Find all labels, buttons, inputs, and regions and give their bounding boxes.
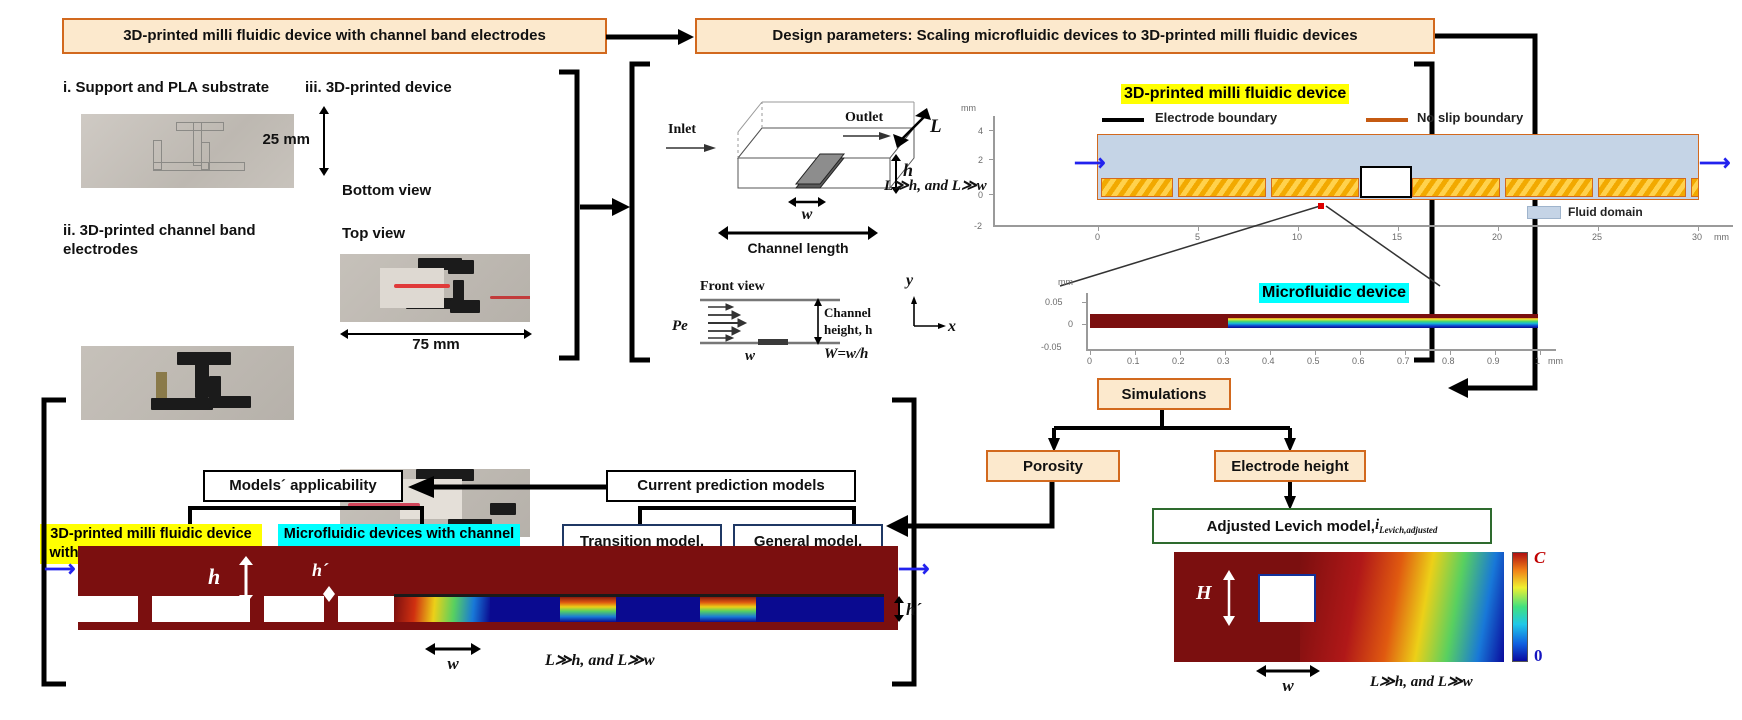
right-sim-H-arrow [1222,570,1236,626]
sim-top-ytick-3: -2 [974,221,982,231]
front-view-label: Front view [700,279,765,295]
bracket-applicability [182,500,432,526]
sim-top-ytick-1: 2 [978,155,983,165]
sim-bottom-xtick-6: 0.6 [1352,356,1365,366]
sim-top-legend-swatch-1 [1366,118,1408,122]
models-applicability-box: Models´ applicability [203,470,403,502]
sim-bottom-xtick-mark-0 [1090,350,1091,355]
bottom-sim-h-label: h [208,564,220,590]
sim-top-legend-label-2: Fluid domain [1568,205,1643,219]
right-sim-gradient [1300,552,1504,662]
sim-bottom-xtick-0: 0 [1087,356,1092,366]
photo-ii-label: ii. 3D-printed channel band electrodes [63,222,278,260]
bracket-bottom-right [886,398,922,686]
arrow-photos-to-schematic [580,196,630,218]
sim-bottom-ytick-1: 0 [1068,319,1073,329]
photo-top-view-label: Top view [342,225,405,242]
sim-bottom-xtick-mark-3 [1225,350,1226,355]
bracket-bottom-left [36,398,72,686]
bottom-sim-gradient-mid [560,596,616,622]
sim-bottom-xtick-1: 0.1 [1127,356,1140,366]
arrow-channel-length [718,226,878,240]
photo-i-image [81,114,294,188]
right-sim-w-label: w [1256,676,1320,696]
right-sim-colorbar [1512,552,1528,662]
photo-ii-image [81,346,294,420]
sim-bottom-xtick-mark-5 [1315,350,1316,355]
sim-top-electrode [1360,166,1412,198]
arrow-header-left-to-right [606,26,696,48]
bottom-sim-w-label: w [425,654,481,674]
bottom-sim-gradient-mid2 [700,596,756,622]
bottom-sim-hprime-right-label: h´ [906,600,921,620]
sim-top-ytick-mark-1 [989,159,994,160]
bracket-schematic-left [626,62,658,362]
schematic-L-label: L [930,116,942,138]
front-view-channel-height-label: Channel height, h [824,305,894,339]
sim-top-outlet-arrow: ⟶ [1699,152,1731,174]
bottom-sim-h-arrow [238,556,254,604]
dimension-height-label: 25 mm [232,131,310,148]
sim-top-xtick-mark-5 [1598,226,1599,231]
sim-bottom-x-axis [1086,349,1556,351]
sim-bottom-xtick-2: 0.2 [1172,356,1185,366]
adjusted-levich-label: Adjusted Levich model, [1207,518,1375,535]
sim-top-ytick-mark-2 [989,194,994,195]
porosity-box: Porosity [986,450,1120,482]
simulations-label: Simulations [1121,386,1206,403]
sim-bottom-xtick-7: 0.7 [1397,356,1410,366]
sim-top-xtick-6: 30 [1692,232,1702,242]
schematic-inlet-label: Inlet [668,122,696,138]
bottom-sim-inlet-arrow: ⟶ [44,558,76,580]
photo-bottom-view-label: Bottom view [342,182,431,199]
sim-bottom-ytick-mark-1 [1082,324,1087,325]
sim-bottom-xtick-5: 0.5 [1307,356,1320,366]
bottom-sim-gap-2 [264,596,324,622]
arrow-electrode-height-down [1282,482,1298,510]
front-view-w-label: w [745,348,755,365]
bottom-sim-gap-0 [78,596,138,622]
porosity-label: Porosity [1023,458,1083,475]
header-box-left: 3D-printed milli fluidic device with cha… [62,18,607,54]
header-left-label: 3D-printed milli fluidic device with cha… [123,28,546,45]
sim-bottom-ytick-mark-0 [1082,302,1087,303]
outlet-arrow [843,130,891,142]
sim-top-porous-block-2 [1271,178,1359,197]
sim-bottom-ytick-2: -0.05 [1041,342,1062,352]
sim-bottom-xtick-mark-2 [1180,350,1181,355]
bottom-sim-gap-3 [338,596,394,622]
sim-top-legend-label-0: Electrode boundary [1155,110,1277,125]
schematic-scaling-note: L≫h, and L≫w [884,176,987,195]
electrode-height-label: Electrode height [1231,458,1349,475]
sim-top-ytick-2: 0 [978,190,983,200]
sim-top-porous-block-1 [1178,178,1266,197]
schematic-channel-length-label: Channel length [700,240,896,256]
bottom-sim-note: L≫h, and L≫w [545,650,655,670]
simulations-box: Simulations [1097,378,1231,410]
sim-top-porous-block-6 [1691,178,1699,197]
right-sim-H-label: H [1196,582,1212,605]
bottom-sim-outlet-arrow: ⟶ [898,558,930,580]
colorbar-bottom-label: 0 [1534,646,1543,666]
bottom-sim-hprime-right-arrow [892,596,906,624]
sim-top-xtick-4: 20 [1492,232,1502,242]
photo-iii-label: iii. 3D-printed device [305,79,525,96]
sim-top-legend-label-1: No slip boundary [1417,110,1523,125]
colorbar-top-label: C [1534,548,1545,568]
bottom-sim-hprime-label: h´ [312,560,328,581]
photo-iii-bottom-image [340,254,530,322]
header-box-right: Design parameters: Scaling microfluidic … [695,18,1435,54]
models-applicability-label: Models´ applicability [229,477,377,494]
sim-top-ytick-0: 4 [978,126,983,136]
header-right-label: Design parameters: Scaling microfluidic … [772,28,1357,45]
sim-top-porous-block-5 [1598,178,1686,197]
front-view-W-definition: W=w/h [824,346,868,363]
sim-top-y-unit: mm [961,103,976,113]
schematic-outlet-label: Outlet [845,110,883,126]
front-view-axis-x-label: x [948,318,956,336]
sim-bottom-xtick-mark-8 [1450,350,1451,355]
right-sim-electrode [1258,574,1316,622]
sim-bottom-title: Microfluidic device [1259,283,1409,303]
bottom-sim-gap-1 [152,596,250,622]
branch-simulations [1010,410,1340,452]
arrow-L-diagonal [893,108,933,148]
sim-bottom-xtick-mark-6 [1360,350,1361,355]
schematic-w-label: w [788,206,826,224]
sim-top-xtick-5: 25 [1592,232,1602,242]
sim-top-xtick-mark-6 [1698,226,1699,231]
bracket-current-models [630,500,870,526]
sim-bottom-y-unit: mm [1058,277,1073,287]
sim-bottom-ytick-0: 0.05 [1045,297,1063,307]
bottom-sim-electrode-outline [394,594,884,597]
sim-top-title: 3D-printed milli fluidic device [1121,84,1349,104]
current-prediction-models-label: Current prediction models [637,477,825,494]
sim-top-fluid-legend-swatch [1527,206,1561,219]
dimension-width-label: 75 mm [340,336,532,353]
zoom-connector-lines [1030,200,1450,290]
photo-i-label: i. Support and PLA substrate [63,79,318,96]
sim-top-porous-block-0 [1101,178,1173,197]
sim-bottom-xtick-10: 1 [1535,356,1540,366]
sim-top-ytick-mark-0 [989,130,994,131]
bottom-sim-gradient-left [394,596,490,622]
sim-top-porous-block-3 [1412,178,1500,197]
current-prediction-models-box: Current prediction models [606,470,856,502]
electrode-height-box: Electrode height [1214,450,1366,482]
sim-top-xtick-mark-4 [1498,226,1499,231]
adjusted-levich-box: Adjusted Levich model, iLevich,adjusted [1152,508,1492,544]
sim-bottom-xtick-9: 0.9 [1487,356,1500,366]
sim-bottom-xtick-mark-1 [1135,350,1136,355]
sim-bottom-xtick-mark-10 [1540,350,1541,355]
sim-bottom-x-unit: mm [1548,356,1563,366]
sim-bottom-channel-right [1228,314,1538,318]
sim-bottom-xtick-3: 0.3 [1217,356,1230,366]
sim-top-legend-swatch-0 [1102,118,1144,122]
sim-bottom-xtick-mark-4 [1270,350,1271,355]
arrow-models-to-applicability [400,476,610,498]
inlet-arrow [666,142,716,154]
sim-bottom-xtick-mark-7 [1405,350,1406,355]
sim-top-porous-block-4 [1505,178,1593,197]
sim-top-inlet-arrow: ⟶ [1074,152,1106,174]
dimension-arrow-height [316,106,332,176]
sim-top-y-axis [993,116,995,226]
sim-top-x-unit: mm [1714,232,1729,242]
sim-bottom-xtick-4: 0.4 [1262,356,1275,366]
right-sim-note: L≫h, and L≫w [1370,672,1473,691]
front-view-pe-label: Pe [672,318,688,335]
front-view-axis-y-label: y [906,272,913,290]
adjusted-levich-symbol: iLevich,adjusted [1375,517,1437,535]
bottom-sim-hprime-arrow [322,586,336,602]
bracket-photos-right [545,70,585,360]
sim-bottom-xtick-mark-9 [1495,350,1496,355]
sim-bottom-xtick-8: 0.8 [1442,356,1455,366]
